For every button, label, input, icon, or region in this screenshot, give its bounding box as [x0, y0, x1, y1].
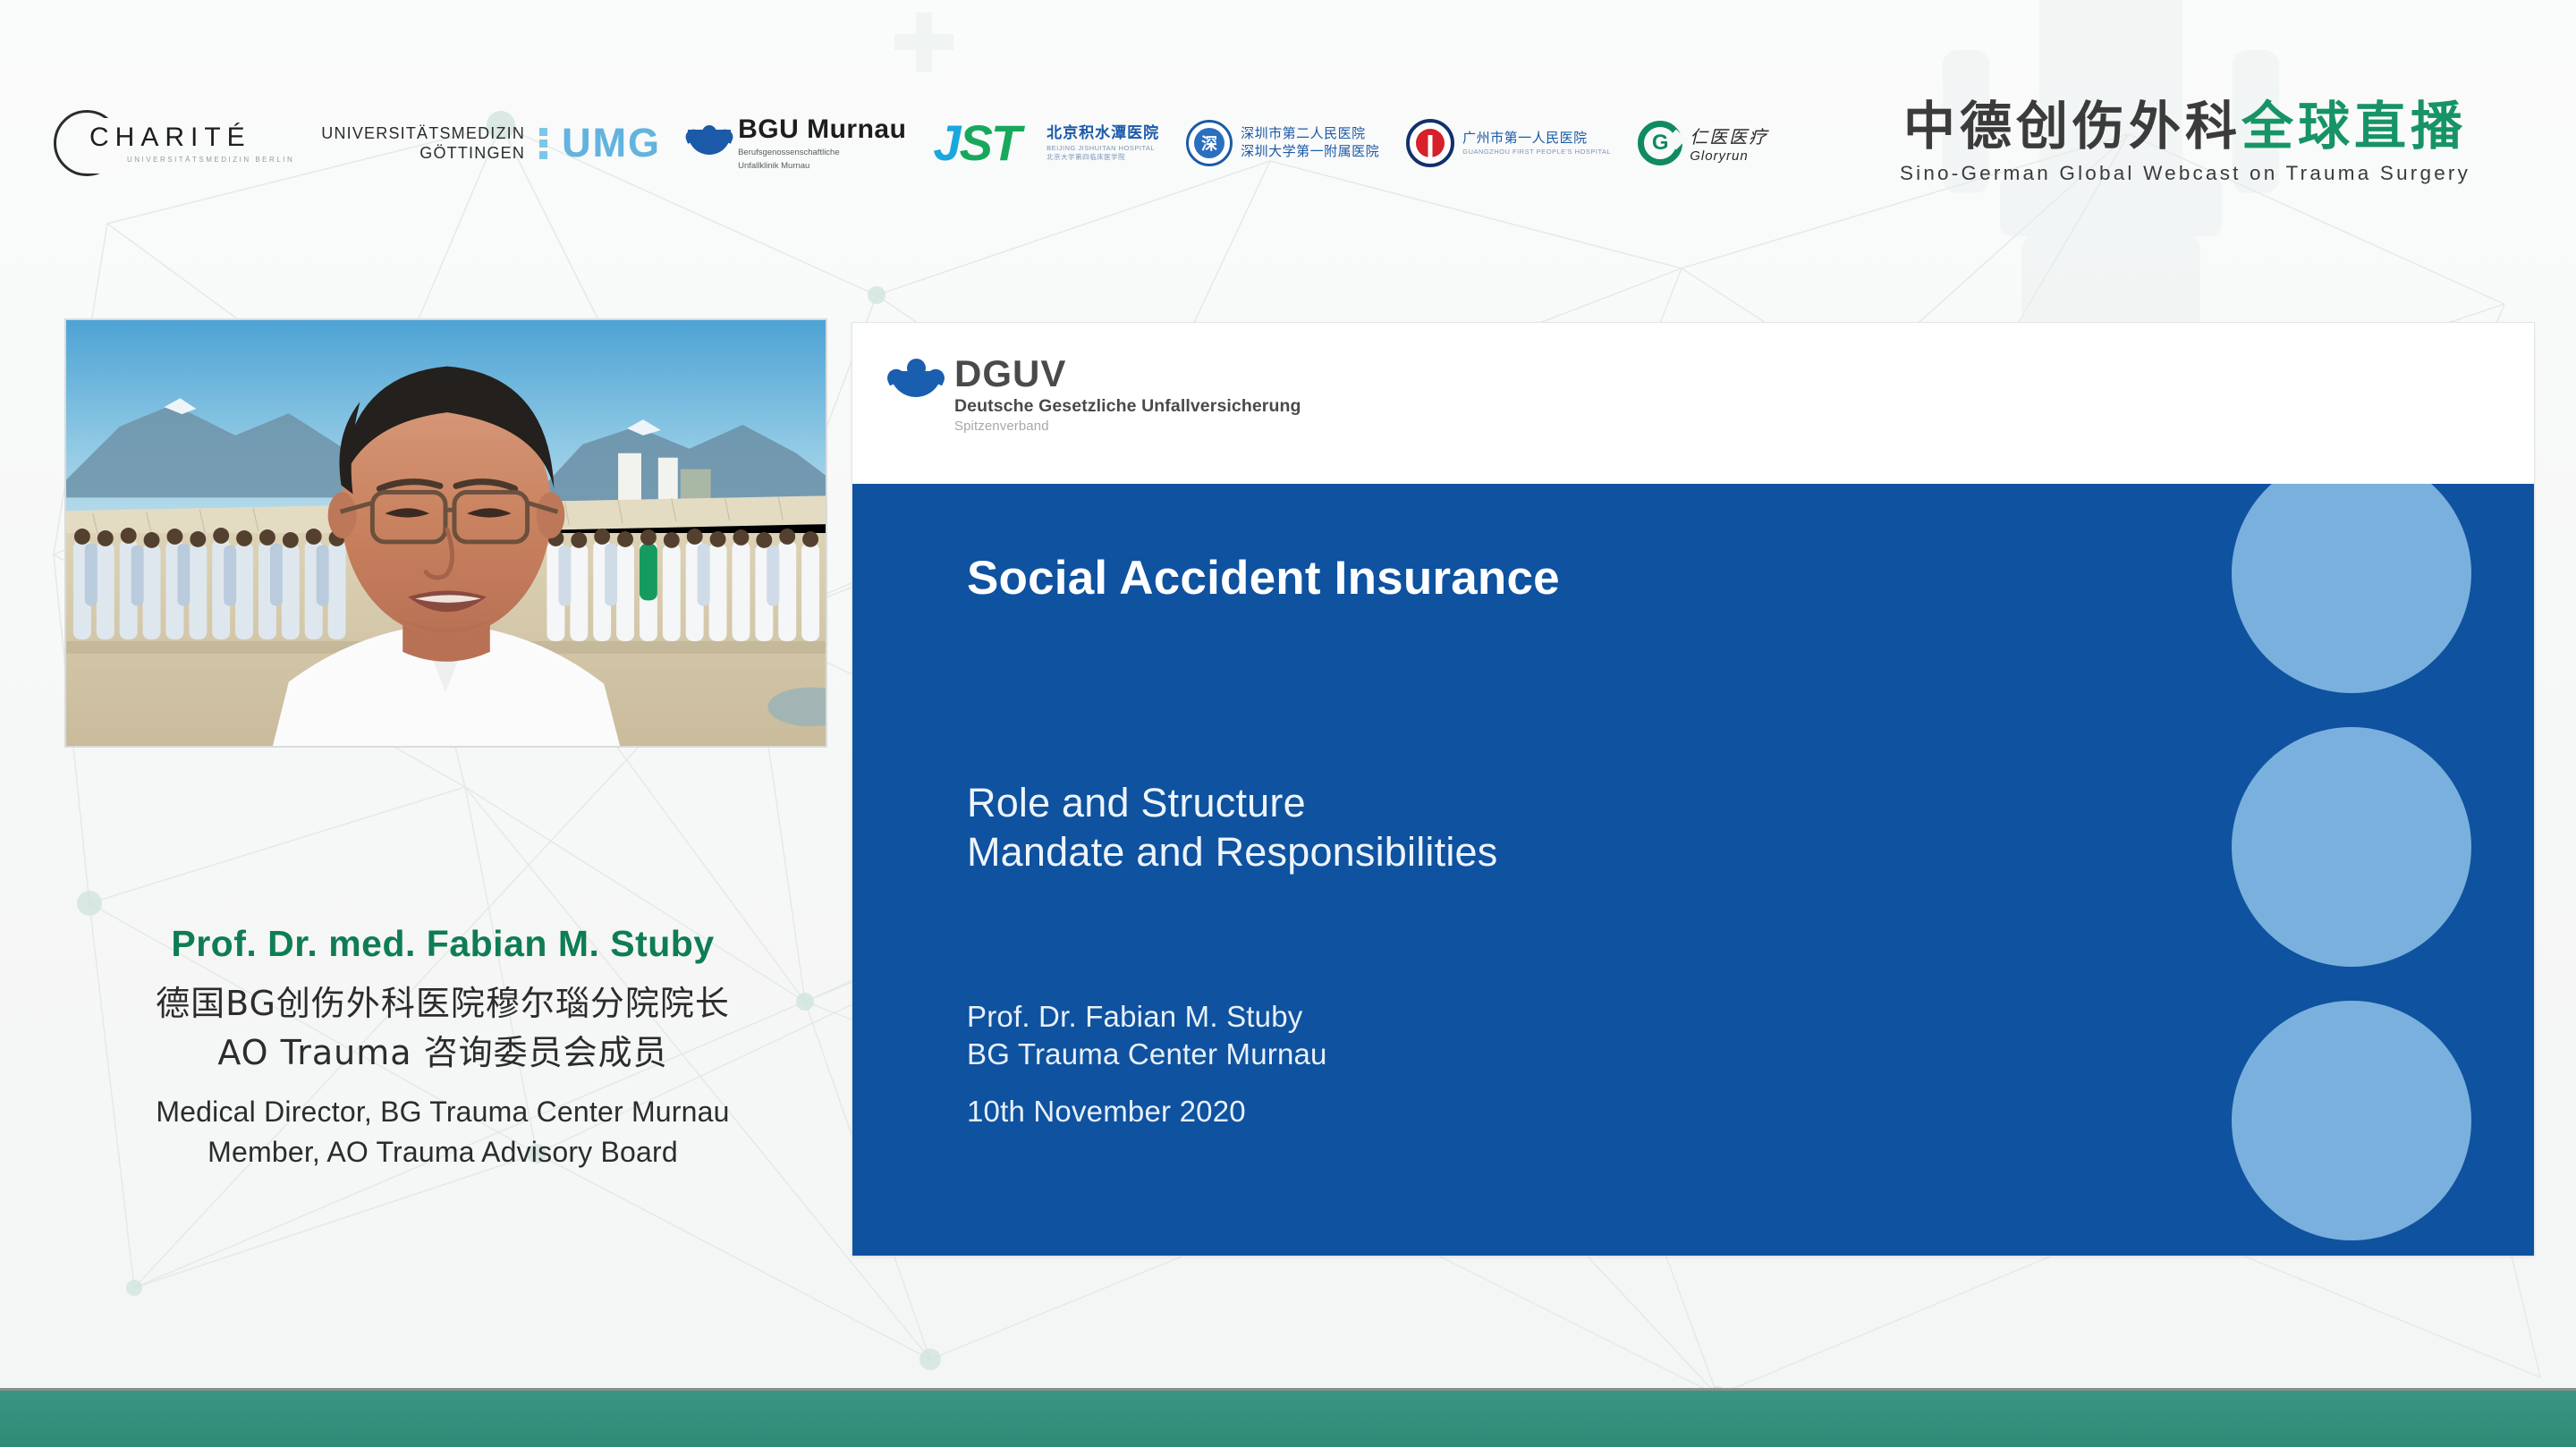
slide-decoration-circle-3	[2232, 1001, 2471, 1240]
speaker-video-image	[66, 320, 826, 746]
speaker-video-feed[interactable]	[64, 318, 827, 748]
shenzhen-cn-name-2: 深圳大学第一附属医院	[1241, 143, 1379, 161]
slide-decoration-circle-2	[2232, 727, 2471, 967]
gloryrun-cn-name: 仁医医疗	[1690, 123, 1768, 148]
logo-jst: JST	[933, 108, 1020, 178]
guangzhou-seal-icon	[1406, 119, 1454, 167]
bgu-subtitle-1: Berufsgenossenschaftliche	[738, 148, 906, 158]
presentation-slide[interactable]: DGUV Deutsche Gesetzliche Unfallversiche…	[852, 322, 2535, 1257]
logo-gloryrun: 仁医医疗 Gloryrun	[1638, 108, 1768, 178]
bottom-accent-bar	[0, 1388, 2576, 1447]
dguv-bowl-icon	[890, 355, 942, 405]
logo-guangzhou-first: 广州市第一人民医院 GUANGZHOU FIRST PEOPLE'S HOSPI…	[1406, 108, 1611, 178]
charite-subtitle: UNIVERSITÄTSMEDIZIN BERLIN	[127, 156, 294, 164]
background-cross-decoration	[894, 13, 953, 72]
dguv-wordmark: DGUV	[954, 355, 1301, 393]
jishuitan-cn-name: 北京积水潭医院	[1046, 123, 1159, 144]
guangzhou-en-name: GUANGZHOU FIRST PEOPLE'S HOSPITAL	[1462, 148, 1611, 157]
event-title-chinese: 中德创伤外科全球直播	[1832, 100, 2538, 155]
slide-presenter-affiliation: BG Trauma Center Murnau	[967, 1036, 1327, 1073]
bgu-subtitle-2: Unfallklinik Murnau	[738, 161, 906, 172]
speaker-cn-line-2: AO Trauma 咨询委员会成员	[36, 1028, 850, 1078]
gloryrun-g-icon	[1638, 121, 1682, 165]
jst-letter-j: J	[933, 114, 959, 171]
umg-line1: UNIVERSITÄTSMEDIZIN	[321, 123, 525, 144]
slide-presenter-name: Prof. Dr. Fabian M. Stuby	[967, 998, 1327, 1036]
slide-subtitle-1: Role and Structure	[967, 779, 1497, 828]
webcast-stage: CHARITÉ UNIVERSITÄTSMEDIZIN BERLIN UNIVE…	[0, 0, 2576, 1447]
umg-line2: GÖTTINGEN	[321, 143, 525, 164]
jst-letter-s: S	[960, 114, 991, 171]
partner-logo-bar: CHARITÉ UNIVERSITÄTSMEDIZIN BERLIN UNIVE…	[54, 104, 1768, 182]
guangzhou-cn-name: 广州市第一人民医院	[1462, 130, 1611, 148]
shenzhen-seal-icon: 深	[1186, 120, 1233, 166]
logo-shenzhen-second: 深 深圳市第二人民医院 深圳大学第一附属医院	[1186, 108, 1379, 178]
event-title-english: Sino-German Global Webcast on Trauma Sur…	[1832, 162, 2538, 185]
logo-umg: UNIVERSITÄTSMEDIZIN GÖTTINGEN UMG	[321, 108, 661, 178]
event-title: 中德创伤外科全球直播 Sino-German Global Webcast on…	[1832, 100, 2538, 185]
event-title-cn-green: 全球直播	[2241, 97, 2467, 156]
charite-wordmark: CHARITÉ	[89, 123, 294, 153]
jishuitan-cn-sub: 北京大学第四临床医学院	[1046, 153, 1159, 162]
dguv-logo: DGUV Deutsche Gesetzliche Unfallversiche…	[890, 355, 1301, 434]
umg-wordmark: UMG	[562, 120, 661, 166]
logo-charite: CHARITÉ UNIVERSITÄTSMEDIZIN BERLIN	[54, 108, 294, 178]
speaker-en-line-2: Member, AO Trauma Advisory Board	[36, 1132, 850, 1172]
bgu-murnau-icon	[688, 123, 731, 164]
speaker-title-chinese: 德国BG创伤外科医院穆尔瑙分院院长 AO Trauma 咨询委员会成员	[36, 979, 850, 1078]
logo-beijing-jishuitan: 北京积水潭医院 BEIJING JISHUITAN HOSPITAL 北京大学第…	[1046, 108, 1159, 178]
slide-meta: Prof. Dr. Fabian M. Stuby BG Trauma Cent…	[967, 998, 1327, 1131]
speaker-en-line-1: Medical Director, BG Trauma Center Murna…	[36, 1092, 850, 1131]
slide-decoration-circle-1	[2232, 484, 2471, 693]
slide-body: Social Accident Insurance Role and Struc…	[852, 484, 2534, 1257]
shenzhen-cn-name-1: 深圳市第二人民医院	[1241, 125, 1379, 143]
slide-subtitles: Role and Structure Mandate and Responsib…	[967, 779, 1497, 877]
umg-dots-icon	[539, 128, 547, 159]
speaker-cn-line-1: 德国BG创伤外科医院穆尔瑙分院院长	[36, 979, 850, 1028]
bgu-wordmark: BGU Murnau	[738, 114, 906, 145]
jst-letter-t: T	[991, 114, 1020, 171]
slide-title: Social Accident Insurance	[967, 551, 1560, 605]
slide-subtitle-2: Mandate and Responsibilities	[967, 828, 1497, 877]
jst-wordmark: JST	[933, 118, 1020, 168]
dguv-subtitle-1: Deutsche Gesetzliche Unfallversicherung	[954, 396, 1301, 417]
event-title-cn-dark: 中德创伤外科	[1903, 97, 2241, 156]
jishuitan-en-name: BEIJING JISHUITAN HOSPITAL	[1046, 144, 1159, 153]
gloryrun-en-name: Gloryrun	[1690, 148, 1768, 164]
slide-date: 10th November 2020	[967, 1093, 1327, 1130]
speaker-title-english: Medical Director, BG Trauma Center Murna…	[36, 1092, 850, 1171]
speaker-info: Prof. Dr. med. Fabian M. Stuby 德国BG创伤外科医…	[36, 921, 850, 1172]
logo-bgu-murnau: BGU Murnau Berufsgenossenschaftliche Unf…	[688, 108, 906, 178]
dguv-subtitle-2: Spitzenverband	[954, 419, 1301, 434]
slide-header: DGUV Deutsche Gesetzliche Unfallversiche…	[852, 323, 2534, 484]
speaker-name: Prof. Dr. med. Fabian M. Stuby	[36, 921, 850, 967]
